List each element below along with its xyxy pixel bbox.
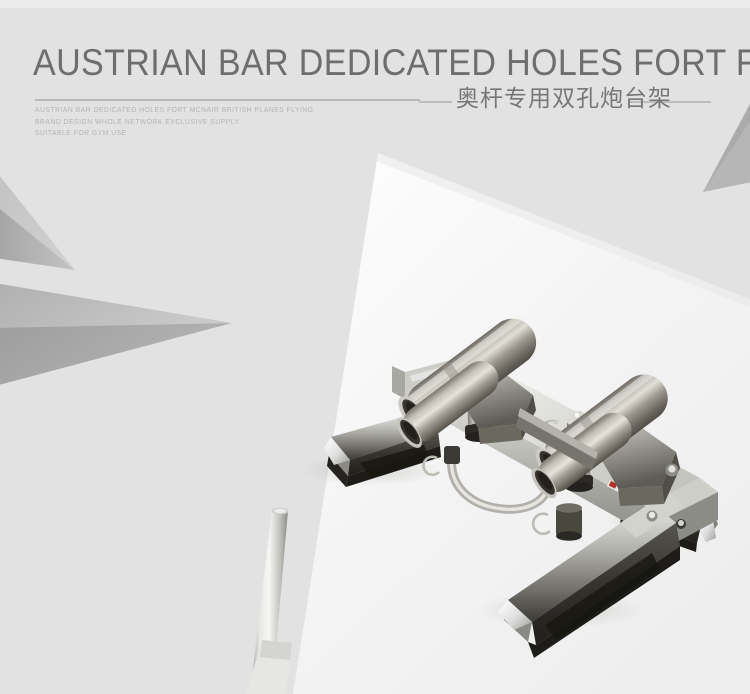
- collar-center-lower: [533, 503, 582, 541]
- product-photo: [0, 0, 750, 694]
- foot-front-right: [498, 492, 684, 658]
- product-banner: AUSTRIAN BAR DEDICATED HOLES FORT FRAME …: [0, 0, 750, 694]
- barbell-bar: [246, 508, 292, 694]
